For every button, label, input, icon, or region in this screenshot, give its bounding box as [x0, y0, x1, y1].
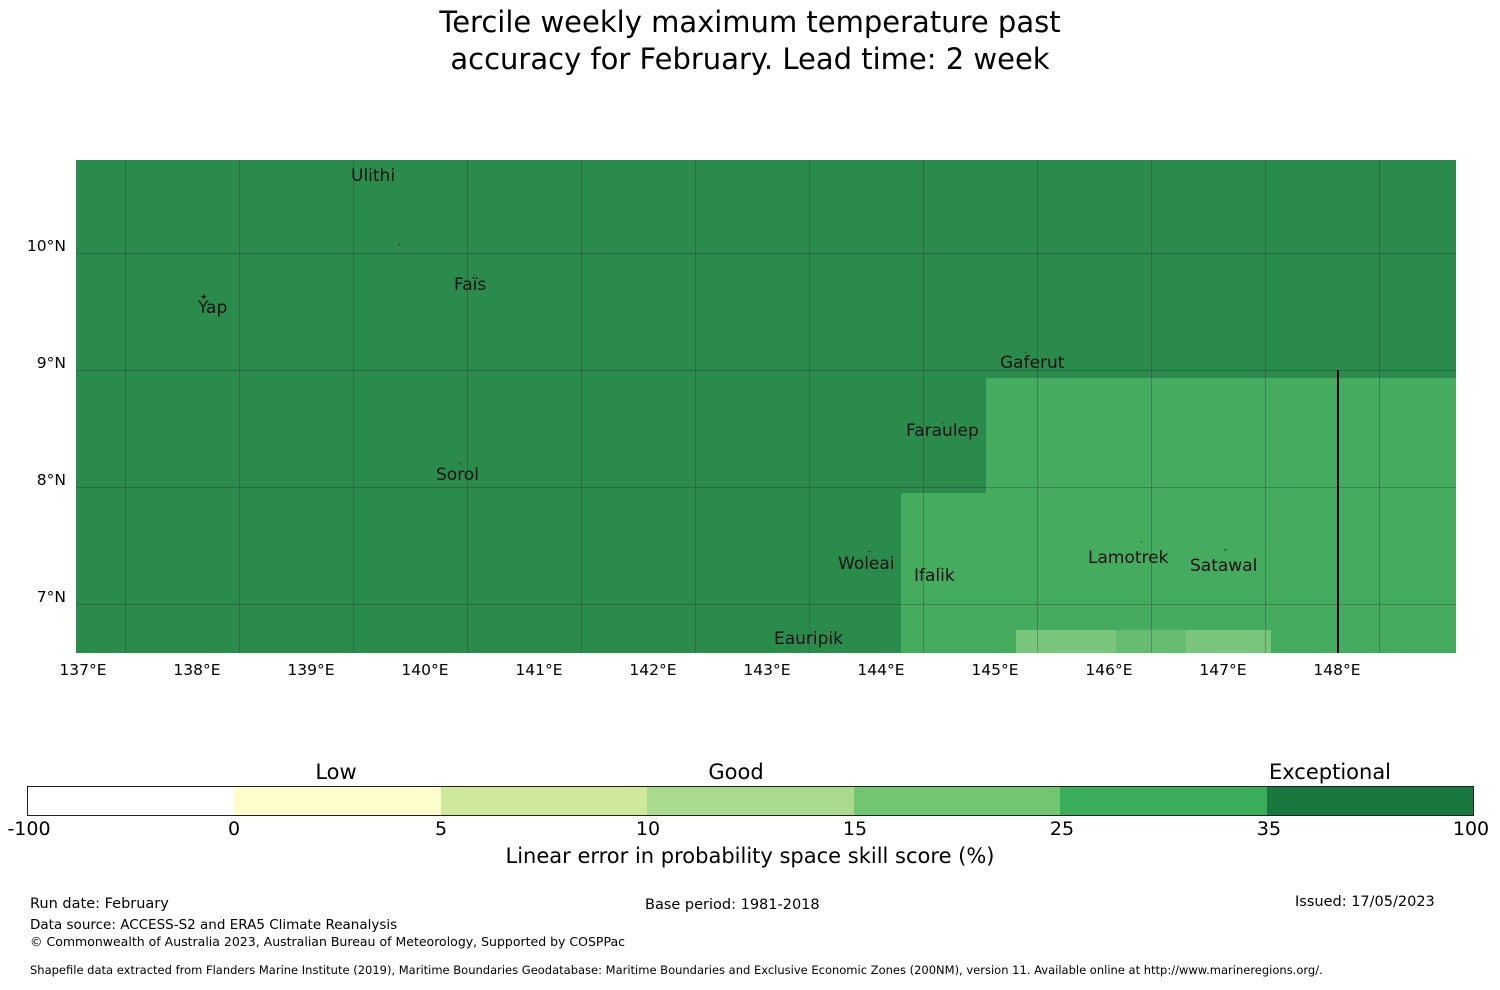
colorbar-tick-0: 0: [228, 818, 240, 840]
footer-data-source: Data source: ACCESS-S2 and ERA5 Climate …: [30, 917, 397, 933]
gridline-vertical: [1151, 160, 1152, 653]
xaxis-tick-144e: 144°E: [857, 661, 904, 679]
xaxis-tick-142e: 142°E: [629, 661, 676, 679]
colorbar-tick-10: 10: [636, 818, 660, 840]
gridline-vertical: [239, 160, 240, 653]
island-label-yap: Yap: [198, 300, 227, 317]
island-label-gaferut: Gaferut: [1000, 355, 1064, 372]
heatmap-cell: [1016, 630, 1116, 653]
colorbar[interactable]: [27, 786, 1474, 816]
colorbar-tick-15: 15: [843, 818, 867, 840]
colorbar-category-good: Good: [708, 760, 763, 784]
page-title: Tercile weekly maximum temperature past …: [0, 4, 1500, 78]
colorbar-tick-100: 100: [1453, 818, 1489, 840]
colorbar-tick-35: 35: [1257, 818, 1281, 840]
xaxis-tick-143e: 143°E: [743, 661, 790, 679]
footer-copyright: © Commonwealth of Australia 2023, Austra…: [30, 934, 625, 949]
colorbar-segment-10-15: [647, 787, 853, 815]
colorbar-tick-5: 5: [435, 818, 447, 840]
island-label-sorol: Sorol: [436, 467, 479, 484]
heatmap-cell: [1186, 630, 1271, 653]
colorbar-segment-15-25: [854, 787, 1060, 815]
colorbar-segment-25-35: [1060, 787, 1266, 815]
xaxis-tick-147e: 147°E: [1199, 661, 1246, 679]
gridline-vertical: [125, 160, 126, 653]
gridline-vertical: [1265, 160, 1266, 653]
island-marker-lamotrek: ·: [1140, 539, 1143, 548]
gridline-vertical: [1037, 160, 1038, 653]
island-label-lamotrek: Lamotrek: [1088, 550, 1168, 567]
xaxis-tick-137e: 137°E: [59, 661, 106, 679]
gridline-horizontal: [76, 604, 1456, 605]
footer-base-period: Base period: 1981-2018: [645, 897, 820, 913]
island-label-faraulep: Faraulep: [906, 423, 979, 440]
colorbar-segment-neg100-0: [28, 787, 234, 815]
footer-shapefile-attribution: Shapefile data extracted from Flanders M…: [30, 963, 1323, 977]
island-label-ulithi: Ulithi: [351, 168, 395, 185]
gridline-vertical: [581, 160, 582, 653]
xaxis-tick-148e: 148°E: [1313, 661, 1360, 679]
yaxis-tick-7n: 7°N: [37, 588, 66, 606]
eez-boundary-line: [1337, 370, 1339, 653]
xaxis-tick-146e: 146°E: [1085, 661, 1132, 679]
gridline-vertical: [695, 160, 696, 653]
island-label-satawal: Satawal: [1190, 558, 1257, 575]
colorbar-axis-label: Linear error in probability space skill …: [0, 844, 1500, 868]
heatmap-cell: [986, 378, 1456, 653]
island-label-woleai: Woleai: [838, 556, 895, 573]
gridline-horizontal: [76, 370, 1456, 371]
xaxis-tick-140e: 140°E: [401, 661, 448, 679]
colorbar-tick-25: 25: [1050, 818, 1074, 840]
gridline-vertical: [467, 160, 468, 653]
xaxis-tick-145e: 145°E: [971, 661, 1018, 679]
colorbar-segment-0-5: [234, 787, 440, 815]
gridline-vertical: [1379, 160, 1380, 653]
island-label-fais: Faïs: [454, 277, 486, 294]
footer-issued-date: Issued: 17/05/2023: [1295, 894, 1435, 910]
island-marker-ulithi: ·: [398, 242, 401, 251]
colorbar-tick-neg100: -100: [7, 818, 50, 840]
xaxis-tick-141e: 141°E: [515, 661, 562, 679]
gridline-vertical: [353, 160, 354, 653]
island-label-eauripik: Eauripik: [774, 631, 843, 648]
colorbar-segment-5-10: [441, 787, 647, 815]
yaxis-tick-10n: 10°N: [27, 237, 66, 255]
island-label-ifalik: Ifalik: [914, 568, 955, 585]
colorbar-category-low: Low: [315, 760, 356, 784]
colorbar-segment-35-100: [1267, 787, 1473, 815]
gridline-horizontal: [76, 487, 1456, 488]
xaxis-tick-138e: 138°E: [173, 661, 220, 679]
yaxis-tick-9n: 9°N: [37, 354, 66, 372]
gridline-horizontal: [76, 253, 1456, 254]
footer-run-date: Run date: February: [30, 896, 169, 912]
gridline-vertical: [809, 160, 810, 653]
colorbar-category-exceptional: Exceptional: [1269, 760, 1391, 784]
xaxis-tick-139e: 139°E: [287, 661, 334, 679]
map-heatmap-panel[interactable]: ✦ · · ˋ · · ¨ · · · ˝ Yap Ulithi Faïs So…: [76, 160, 1456, 653]
yaxis-tick-8n: 8°N: [37, 471, 66, 489]
